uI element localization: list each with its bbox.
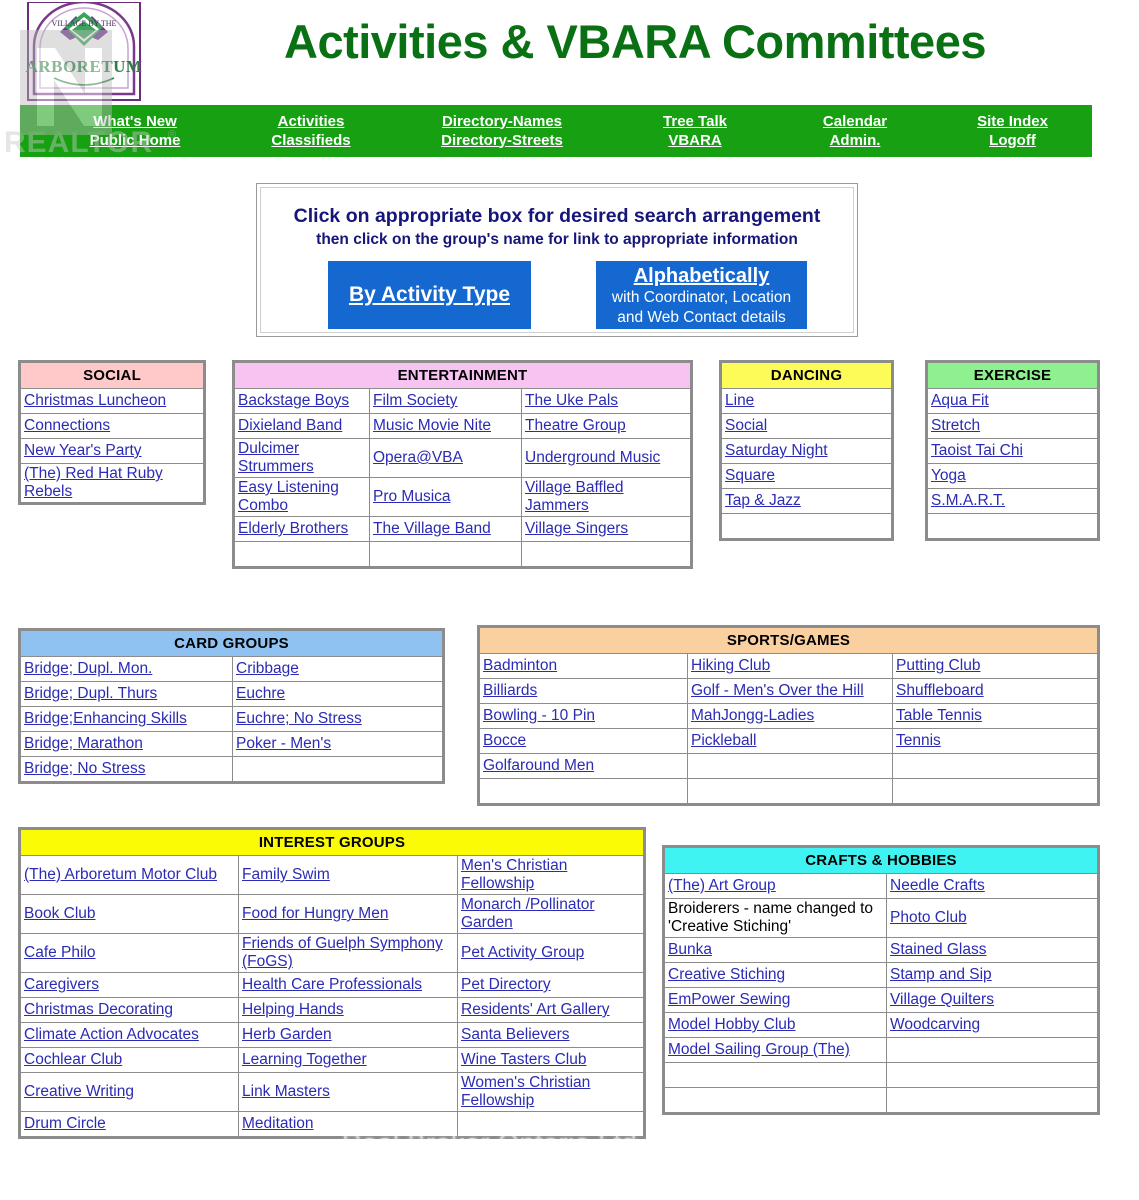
search-arrangement-panel: Click on appropriate box for desired sea… bbox=[256, 183, 858, 337]
arboretum-logo: ARBORETUM VILLAGE BY THE bbox=[20, 2, 148, 102]
group-link[interactable]: Dulcimer Strummers bbox=[238, 440, 314, 475]
group-link[interactable]: Backstage Boys bbox=[238, 392, 349, 409]
group-link[interactable]: Food for Hungry Men bbox=[242, 905, 388, 922]
group-table-crafts-hobbies: CRAFTS & HOBBIES(The) Art GroupNeedle Cr… bbox=[662, 845, 1100, 1115]
group-link[interactable]: Bocce bbox=[483, 732, 526, 749]
table-row: BunkaStained Glass bbox=[665, 938, 1098, 963]
main-navigation: What's New Public Home Activities Classi… bbox=[20, 105, 1092, 157]
group-table-exercise: EXERCISEAqua FitStretchTaoist Tai ChiYog… bbox=[927, 362, 1098, 539]
table-cell: Climate Action Advocates bbox=[21, 1023, 239, 1048]
table-cell: Photo Club bbox=[887, 899, 1098, 938]
search-instruction-line-2: then click on the group's name for link … bbox=[261, 231, 853, 249]
table-cell: Herb Garden bbox=[239, 1023, 458, 1048]
table-row: EmPower SewingVillage Quilters bbox=[665, 988, 1098, 1013]
group-table-crafts-hobbies: CRAFTS & HOBBIES(The) Art GroupNeedle Cr… bbox=[664, 847, 1098, 1113]
group-table-dancing: DANCINGLineSocialSaturday NightSquareTap… bbox=[719, 360, 894, 541]
table-cell: Badminton bbox=[480, 654, 688, 679]
by-activity-type-label: By Activity Type bbox=[349, 283, 510, 307]
group-link[interactable]: Pro Musica bbox=[373, 488, 451, 505]
table-cell: Dixieland Band bbox=[235, 414, 370, 439]
group-table-card-groups: CARD GROUPSBridge; Dupl. Mon.CribbageBri… bbox=[20, 630, 443, 782]
table-cell: Bridge;Enhancing Skills bbox=[21, 707, 233, 732]
table-cell: The Village Band bbox=[370, 517, 522, 542]
table-cell: Pet Directory bbox=[458, 973, 644, 998]
table-cell: Christmas Luncheon bbox=[21, 389, 204, 414]
nav-column-6: Site Index Logoff bbox=[935, 105, 1090, 157]
table-cell: Underground Music bbox=[522, 439, 691, 478]
group-link[interactable]: Yoga bbox=[931, 467, 966, 484]
table-cell: Caregivers bbox=[21, 973, 239, 998]
table-cell: Euchre; No Stress bbox=[233, 707, 443, 732]
group-link[interactable]: Music Movie Nite bbox=[373, 417, 491, 434]
table-cell: Creative Writing bbox=[21, 1073, 239, 1112]
group-link[interactable]: Pet Directory bbox=[461, 976, 551, 993]
table-cell: (The) Art Group bbox=[665, 874, 887, 899]
table-cell: Shuffleboard bbox=[893, 679, 1098, 704]
group-link[interactable]: Hiking Club bbox=[691, 657, 770, 674]
table-cell: Bocce bbox=[480, 729, 688, 754]
table-row: Cochlear ClubLearning TogetherWine Taste… bbox=[21, 1048, 644, 1073]
alphabetically-sub-1: with Coordinator, Location bbox=[596, 288, 807, 308]
group-link[interactable]: Bunka bbox=[668, 941, 712, 958]
group-link[interactable]: Taoist Tai Chi bbox=[931, 442, 1023, 459]
table-cell: Backstage Boys bbox=[235, 389, 370, 414]
table-row: Broiderers - name changed to 'Creative S… bbox=[665, 899, 1098, 938]
group-link[interactable]: Tap & Jazz bbox=[725, 492, 801, 509]
table-cell bbox=[722, 514, 892, 539]
table-cell bbox=[458, 1112, 644, 1137]
group-link[interactable]: Stamp and Sip bbox=[890, 966, 992, 983]
table-cell: (The) Red Hat Ruby Rebels bbox=[21, 464, 204, 503]
group-link[interactable]: Pet Activity Group bbox=[461, 944, 584, 961]
table-row: Golfaround Men bbox=[480, 754, 1098, 779]
page-header: ARBORETUM VILLAGE BY THE Activities & VB… bbox=[0, 0, 1139, 104]
table-cell: Bunka bbox=[665, 938, 887, 963]
alphabetically-label: Alphabetically bbox=[596, 265, 807, 288]
group-link[interactable]: New Year's Party bbox=[24, 442, 142, 459]
table-row: Line bbox=[722, 389, 892, 414]
group-link[interactable]: MahJongg-Ladies bbox=[691, 707, 814, 724]
group-link[interactable]: Photo Club bbox=[890, 909, 967, 926]
table-cell: Food for Hungry Men bbox=[239, 895, 458, 934]
table-row: (The) Red Hat Ruby Rebels bbox=[21, 464, 204, 503]
table-cell: Bridge; Dupl. Thurs bbox=[21, 682, 233, 707]
group-link[interactable]: Bridge; Dupl. Mon. bbox=[24, 660, 152, 677]
table-cell: Men's Christian Fellowship bbox=[458, 856, 644, 895]
group-link[interactable]: The Uke Pals bbox=[525, 392, 618, 409]
group-link[interactable]: Shuffleboard bbox=[896, 682, 984, 699]
table-cell bbox=[522, 542, 691, 567]
table-cell: Golfaround Men bbox=[480, 754, 688, 779]
table-row: Christmas DecoratingHelping HandsResiden… bbox=[21, 998, 644, 1023]
nav-link-admin[interactable]: Admin. bbox=[830, 133, 881, 149]
table-cell: Meditation bbox=[239, 1112, 458, 1137]
table-row: Cafe PhiloFriends of Guelph Symphony (Fo… bbox=[21, 934, 644, 973]
table-cell: Women's Christian Fellowship bbox=[458, 1073, 644, 1112]
group-table-exercise: EXERCISEAqua FitStretchTaoist Tai ChiYog… bbox=[925, 360, 1100, 541]
group-link[interactable]: Residents' Art Gallery bbox=[461, 1001, 610, 1018]
group-link[interactable]: Cribbage bbox=[236, 660, 299, 677]
group-link[interactable]: EmPower Sewing bbox=[668, 991, 790, 1008]
group-table-entertainment: ENTERTAINMENTBackstage BoysFilm SocietyT… bbox=[234, 362, 691, 567]
group-link[interactable]: Pickleball bbox=[691, 732, 756, 749]
table-cell: Opera@VBA bbox=[370, 439, 522, 478]
table-cell: Line bbox=[722, 389, 892, 414]
table-cell: Bridge; No Stress bbox=[21, 757, 233, 782]
group-link[interactable]: Cafe Philo bbox=[24, 944, 96, 961]
table-cell bbox=[887, 1088, 1098, 1113]
table-cell: Music Movie Nite bbox=[370, 414, 522, 439]
table-row bbox=[722, 514, 892, 539]
table-cell: Hiking Club bbox=[688, 654, 893, 679]
group-table-dancing: DANCINGLineSocialSaturday NightSquareTap… bbox=[721, 362, 892, 539]
table-cell: Learning Together bbox=[239, 1048, 458, 1073]
table-row: Bridge; Dupl. ThursEuchre bbox=[21, 682, 443, 707]
nav-link-classifieds[interactable]: Classifieds bbox=[271, 133, 350, 149]
table-cell: Film Society bbox=[370, 389, 522, 414]
nav-link-tree-talk[interactable]: Tree Talk bbox=[663, 114, 727, 130]
group-link[interactable]: Bridge; No Stress bbox=[24, 760, 145, 777]
group-header-dancing: DANCING bbox=[722, 363, 892, 389]
group-link[interactable]: S.M.A.R.T. bbox=[931, 492, 1005, 509]
table-cell: Woodcarving bbox=[887, 1013, 1098, 1038]
nav-link-directory-names[interactable]: Directory-Names bbox=[442, 114, 562, 130]
group-link[interactable]: Dixieland Band bbox=[238, 417, 342, 434]
group-table-card-groups: CARD GROUPSBridge; Dupl. Mon.CribbageBri… bbox=[18, 628, 445, 784]
table-cell bbox=[688, 779, 893, 804]
table-cell: Wine Tasters Club bbox=[458, 1048, 644, 1073]
group-link[interactable]: Bridge;Enhancing Skills bbox=[24, 710, 187, 727]
table-cell: Euchre bbox=[233, 682, 443, 707]
group-header-exercise: EXERCISE bbox=[928, 363, 1098, 389]
group-link[interactable]: Drum Circle bbox=[24, 1115, 106, 1132]
group-link[interactable]: Village Quilters bbox=[890, 991, 994, 1008]
table-cell: Village Singers bbox=[522, 517, 691, 542]
nav-column-5: Calendar Admin. bbox=[775, 105, 935, 157]
group-link[interactable]: Table Tennis bbox=[896, 707, 982, 724]
group-table-sports-games: SPORTS/GAMESBadmintonHiking ClubPutting … bbox=[477, 625, 1100, 806]
group-link[interactable]: Euchre; No Stress bbox=[236, 710, 362, 727]
table-cell: Putting Club bbox=[893, 654, 1098, 679]
table-cell: Drum Circle bbox=[21, 1112, 239, 1137]
table-cell: New Year's Party bbox=[21, 439, 204, 464]
table-cell: Aqua Fit bbox=[928, 389, 1098, 414]
group-link[interactable]: Stretch bbox=[931, 417, 980, 434]
table-cell: Connections bbox=[21, 414, 204, 439]
group-link[interactable]: Billiards bbox=[483, 682, 537, 699]
table-row: CaregiversHealth Care ProfessionalsPet D… bbox=[21, 973, 644, 998]
table-row: Climate Action AdvocatesHerb GardenSanta… bbox=[21, 1023, 644, 1048]
table-row bbox=[665, 1088, 1098, 1113]
table-cell: Stretch bbox=[928, 414, 1098, 439]
group-link[interactable]: Model Sailing Group (The) bbox=[668, 1041, 850, 1058]
table-cell: Social bbox=[722, 414, 892, 439]
table-row: Book ClubFood for Hungry MenMonarch /Pol… bbox=[21, 895, 644, 934]
group-link[interactable]: Square bbox=[725, 467, 775, 484]
table-cell: (The) Arboretum Motor Club bbox=[21, 856, 239, 895]
group-link[interactable]: Friends of Guelph Symphony (FoGS) bbox=[242, 935, 443, 970]
table-row: Saturday Night bbox=[722, 439, 892, 464]
group-link[interactable]: (The) Red Hat Ruby Rebels bbox=[24, 465, 163, 500]
table-cell bbox=[893, 779, 1098, 804]
table-row: Dixieland BandMusic Movie NiteTheatre Gr… bbox=[235, 414, 691, 439]
group-link[interactable]: Putting Club bbox=[896, 657, 980, 674]
table-cell: Broiderers - name changed to 'Creative S… bbox=[665, 899, 887, 938]
group-link[interactable]: Bowling - 10 Pin bbox=[483, 707, 595, 724]
table-row: Aqua Fit bbox=[928, 389, 1098, 414]
table-cell bbox=[235, 542, 370, 567]
nav-column-2: Activities Classifieds bbox=[225, 105, 397, 157]
table-cell: Bridge; Marathon bbox=[21, 732, 233, 757]
search-panel-inner: Click on appropriate box for desired sea… bbox=[260, 187, 854, 333]
table-row: Creative WritingLink MastersWomen's Chri… bbox=[21, 1073, 644, 1112]
group-link[interactable]: Underground Music bbox=[525, 449, 660, 466]
group-link[interactable]: Needle Crafts bbox=[890, 877, 985, 894]
group-link[interactable]: Social bbox=[725, 417, 767, 434]
group-link[interactable]: Helping Hands bbox=[242, 1001, 344, 1018]
group-table-interest-groups: INTEREST GROUPS(The) Arboretum Motor Clu… bbox=[20, 829, 644, 1137]
table-row: Connections bbox=[21, 414, 204, 439]
group-link[interactable]: Golf - Men's Over the Hill bbox=[691, 682, 864, 699]
group-link[interactable]: Badminton bbox=[483, 657, 557, 674]
group-link[interactable]: Opera@VBA bbox=[373, 449, 463, 466]
group-note-text: Broiderers - name changed to 'Creative S… bbox=[668, 900, 873, 935]
table-row: BilliardsGolf - Men's Over the HillShuff… bbox=[480, 679, 1098, 704]
table-cell: Helping Hands bbox=[239, 998, 458, 1023]
table-cell: Taoist Tai Chi bbox=[928, 439, 1098, 464]
group-link[interactable]: Easy Listening Combo bbox=[238, 479, 339, 514]
table-cell: Square bbox=[722, 464, 892, 489]
table-row bbox=[665, 1063, 1098, 1088]
nav-link-public-home[interactable]: Public Home bbox=[90, 133, 181, 149]
nav-column-3: Directory-Names Directory-Streets bbox=[402, 105, 602, 157]
nav-link-site-index[interactable]: Site Index bbox=[977, 114, 1048, 130]
table-row: Easy Listening ComboPro MusicaVillage Ba… bbox=[235, 478, 691, 517]
svg-text:ARBORETUM: ARBORETUM bbox=[26, 57, 143, 76]
table-cell: EmPower Sewing bbox=[665, 988, 887, 1013]
group-link[interactable]: Euchre bbox=[236, 685, 285, 702]
search-instruction-line-1: Click on appropriate box for desired sea… bbox=[261, 205, 853, 228]
table-cell: Bowling - 10 Pin bbox=[480, 704, 688, 729]
table-cell: S.M.A.R.T. bbox=[928, 489, 1098, 514]
table-cell: Pet Activity Group bbox=[458, 934, 644, 973]
table-row: BadmintonHiking ClubPutting Club bbox=[480, 654, 1098, 679]
table-row: (The) Arboretum Motor ClubFamily SwimMen… bbox=[21, 856, 644, 895]
table-row: Backstage BoysFilm SocietyThe Uke Pals bbox=[235, 389, 691, 414]
group-link[interactable]: Creative Stiching bbox=[668, 966, 785, 983]
nav-column-1: What's New Public Home bbox=[50, 105, 220, 157]
nav-link-logoff[interactable]: Logoff bbox=[989, 133, 1036, 149]
table-cell bbox=[233, 757, 443, 782]
group-header-entertainment: ENTERTAINMENT bbox=[235, 363, 691, 389]
group-link[interactable]: Family Swim bbox=[242, 866, 330, 883]
group-link[interactable]: Line bbox=[725, 392, 754, 409]
group-link[interactable]: The Village Band bbox=[373, 520, 491, 537]
group-table-sports-games: SPORTS/GAMESBadmintonHiking ClubPutting … bbox=[479, 627, 1098, 804]
table-row: Square bbox=[722, 464, 892, 489]
table-cell: Creative Stiching bbox=[665, 963, 887, 988]
group-link[interactable]: Christmas Decorating bbox=[24, 1001, 173, 1018]
group-link[interactable]: Climate Action Advocates bbox=[24, 1026, 199, 1043]
table-cell bbox=[665, 1063, 887, 1088]
group-link[interactable]: Village Singers bbox=[525, 520, 628, 537]
table-cell: Elderly Brothers bbox=[235, 517, 370, 542]
table-cell: Needle Crafts bbox=[887, 874, 1098, 899]
table-row bbox=[480, 779, 1098, 804]
group-link[interactable]: Aqua Fit bbox=[931, 392, 989, 409]
table-cell: Family Swim bbox=[239, 856, 458, 895]
group-link[interactable]: Herb Garden bbox=[242, 1026, 332, 1043]
table-cell: Pickleball bbox=[688, 729, 893, 754]
group-table-entertainment: ENTERTAINMENTBackstage BoysFilm SocietyT… bbox=[232, 360, 693, 569]
page-title: Activities & VBARA Committees bbox=[175, 14, 1095, 69]
table-row: Christmas Luncheon bbox=[21, 389, 204, 414]
table-row: S.M.A.R.T. bbox=[928, 489, 1098, 514]
group-link[interactable]: Saturday Night bbox=[725, 442, 828, 459]
table-row bbox=[235, 542, 691, 567]
nav-link-directory-streets[interactable]: Directory-Streets bbox=[441, 133, 563, 149]
nav-link-vbara[interactable]: VBARA bbox=[668, 133, 721, 149]
table-cell bbox=[480, 779, 688, 804]
group-link[interactable]: Women's Christian Fellowship bbox=[461, 1074, 590, 1109]
group-header-interest-groups: INTEREST GROUPS bbox=[21, 830, 644, 856]
table-cell bbox=[893, 754, 1098, 779]
table-cell: Cochlear Club bbox=[21, 1048, 239, 1073]
group-link[interactable]: Creative Writing bbox=[24, 1083, 134, 1100]
group-table-social: SOCIALChristmas LuncheonConnectionsNew Y… bbox=[20, 362, 204, 503]
table-row: Stretch bbox=[928, 414, 1098, 439]
table-cell: Cribbage bbox=[233, 657, 443, 682]
table-cell: Stained Glass bbox=[887, 938, 1098, 963]
group-link[interactable]: Santa Believers bbox=[461, 1026, 570, 1043]
table-cell: Model Hobby Club bbox=[665, 1013, 887, 1038]
table-cell bbox=[370, 542, 522, 567]
table-cell: Residents' Art Gallery bbox=[458, 998, 644, 1023]
group-header-sports-games: SPORTS/GAMES bbox=[480, 628, 1098, 654]
table-cell: Tennis bbox=[893, 729, 1098, 754]
table-row: Bowling - 10 PinMahJongg-LadiesTable Ten… bbox=[480, 704, 1098, 729]
group-link[interactable]: Christmas Luncheon bbox=[24, 392, 166, 409]
table-cell bbox=[928, 514, 1098, 539]
table-row: Social bbox=[722, 414, 892, 439]
group-link[interactable]: Film Society bbox=[373, 392, 457, 409]
table-row: Model Sailing Group (The) bbox=[665, 1038, 1098, 1063]
group-link[interactable]: Village Baffled Jammers bbox=[525, 479, 624, 514]
group-link[interactable]: Woodcarving bbox=[890, 1016, 980, 1033]
group-link[interactable]: Poker - Men's bbox=[236, 735, 331, 752]
table-cell: Saturday Night bbox=[722, 439, 892, 464]
table-cell: Theatre Group bbox=[522, 414, 691, 439]
group-link[interactable]: Bridge; Dupl. Thurs bbox=[24, 685, 157, 702]
group-link[interactable]: Health Care Professionals bbox=[242, 976, 422, 993]
group-link[interactable]: Elderly Brothers bbox=[238, 520, 348, 537]
group-link[interactable]: Caregivers bbox=[24, 976, 99, 993]
group-header-crafts-hobbies: CRAFTS & HOBBIES bbox=[665, 848, 1098, 874]
nav-link-calendar[interactable]: Calendar bbox=[823, 114, 887, 130]
group-link[interactable]: Tennis bbox=[896, 732, 941, 749]
group-header-card-groups: CARD GROUPS bbox=[21, 631, 443, 657]
table-row: Tap & Jazz bbox=[722, 489, 892, 514]
svg-text:VILLAGE BY THE: VILLAGE BY THE bbox=[52, 19, 117, 28]
table-cell: Tap & Jazz bbox=[722, 489, 892, 514]
table-cell: Book Club bbox=[21, 895, 239, 934]
group-link[interactable]: Cochlear Club bbox=[24, 1051, 122, 1068]
group-link[interactable]: Wine Tasters Club bbox=[461, 1051, 586, 1068]
table-row: Bridge; No Stress bbox=[21, 757, 443, 782]
table-cell: Bridge; Dupl. Mon. bbox=[21, 657, 233, 682]
table-cell: Monarch /Pollinator Garden bbox=[458, 895, 644, 934]
table-row bbox=[928, 514, 1098, 539]
group-link[interactable]: Theatre Group bbox=[525, 417, 626, 434]
group-table-social: SOCIALChristmas LuncheonConnectionsNew Y… bbox=[18, 360, 206, 505]
group-link[interactable]: Monarch /Pollinator Garden bbox=[461, 896, 595, 931]
table-row: Model Hobby ClubWoodcarving bbox=[665, 1013, 1098, 1038]
alphabetically-sub-2: and Web Contact details bbox=[596, 308, 807, 328]
group-link[interactable]: Model Hobby Club bbox=[668, 1016, 796, 1033]
group-link[interactable]: Meditation bbox=[242, 1115, 314, 1132]
table-cell: Billiards bbox=[480, 679, 688, 704]
table-cell bbox=[887, 1063, 1098, 1088]
table-cell: Golf - Men's Over the Hill bbox=[688, 679, 893, 704]
table-row: Bridge; MarathonPoker - Men's bbox=[21, 732, 443, 757]
table-row: Dulcimer StrummersOpera@VBAUnderground M… bbox=[235, 439, 691, 478]
table-cell: Friends of Guelph Symphony (FoGS) bbox=[239, 934, 458, 973]
table-row: New Year's Party bbox=[21, 439, 204, 464]
group-link[interactable]: Golfaround Men bbox=[483, 757, 594, 774]
table-row: (The) Art GroupNeedle Crafts bbox=[665, 874, 1098, 899]
table-cell: Village Quilters bbox=[887, 988, 1098, 1013]
nav-link-whats-new[interactable]: What's New bbox=[93, 114, 177, 130]
nav-link-activities[interactable]: Activities bbox=[278, 114, 345, 130]
table-cell: The Uke Pals bbox=[522, 389, 691, 414]
table-row: Drum CircleMeditation bbox=[21, 1112, 644, 1137]
table-row: Elderly BrothersThe Village BandVillage … bbox=[235, 517, 691, 542]
table-cell bbox=[688, 754, 893, 779]
table-cell: Health Care Professionals bbox=[239, 973, 458, 998]
group-link[interactable]: Men's Christian Fellowship bbox=[461, 857, 567, 892]
table-row: BoccePickleballTennis bbox=[480, 729, 1098, 754]
table-cell: Yoga bbox=[928, 464, 1098, 489]
table-cell: Poker - Men's bbox=[233, 732, 443, 757]
table-cell bbox=[665, 1088, 887, 1113]
group-link[interactable]: Book Club bbox=[24, 905, 96, 922]
table-row: Taoist Tai Chi bbox=[928, 439, 1098, 464]
group-link[interactable]: Bridge; Marathon bbox=[24, 735, 143, 752]
table-cell: Easy Listening Combo bbox=[235, 478, 370, 517]
group-link[interactable]: (The) Arboretum Motor Club bbox=[24, 866, 217, 883]
table-cell: Christmas Decorating bbox=[21, 998, 239, 1023]
table-cell: Stamp and Sip bbox=[887, 963, 1098, 988]
group-link[interactable]: Connections bbox=[24, 417, 110, 434]
table-cell: Village Baffled Jammers bbox=[522, 478, 691, 517]
group-link[interactable]: Stained Glass bbox=[890, 941, 987, 958]
table-cell: Santa Believers bbox=[458, 1023, 644, 1048]
table-row: Creative StichingStamp and Sip bbox=[665, 963, 1098, 988]
table-row: Bridge;Enhancing SkillsEuchre; No Stress bbox=[21, 707, 443, 732]
group-link[interactable]: Link Masters bbox=[242, 1083, 330, 1100]
by-activity-type-button[interactable]: By Activity Type bbox=[328, 261, 531, 329]
group-table-interest-groups: INTEREST GROUPS(The) Arboretum Motor Clu… bbox=[18, 827, 646, 1139]
group-link[interactable]: Learning Together bbox=[242, 1051, 367, 1068]
table-row: Bridge; Dupl. Mon.Cribbage bbox=[21, 657, 443, 682]
nav-column-4: Tree Talk VBARA bbox=[615, 105, 775, 157]
alphabetically-button[interactable]: Alphabetically with Coordinator, Locatio… bbox=[596, 261, 807, 329]
table-cell: Table Tennis bbox=[893, 704, 1098, 729]
table-cell: Link Masters bbox=[239, 1073, 458, 1112]
group-link[interactable]: (The) Art Group bbox=[668, 877, 776, 894]
group-header-social: SOCIAL bbox=[21, 363, 204, 389]
table-cell: MahJongg-Ladies bbox=[688, 704, 893, 729]
